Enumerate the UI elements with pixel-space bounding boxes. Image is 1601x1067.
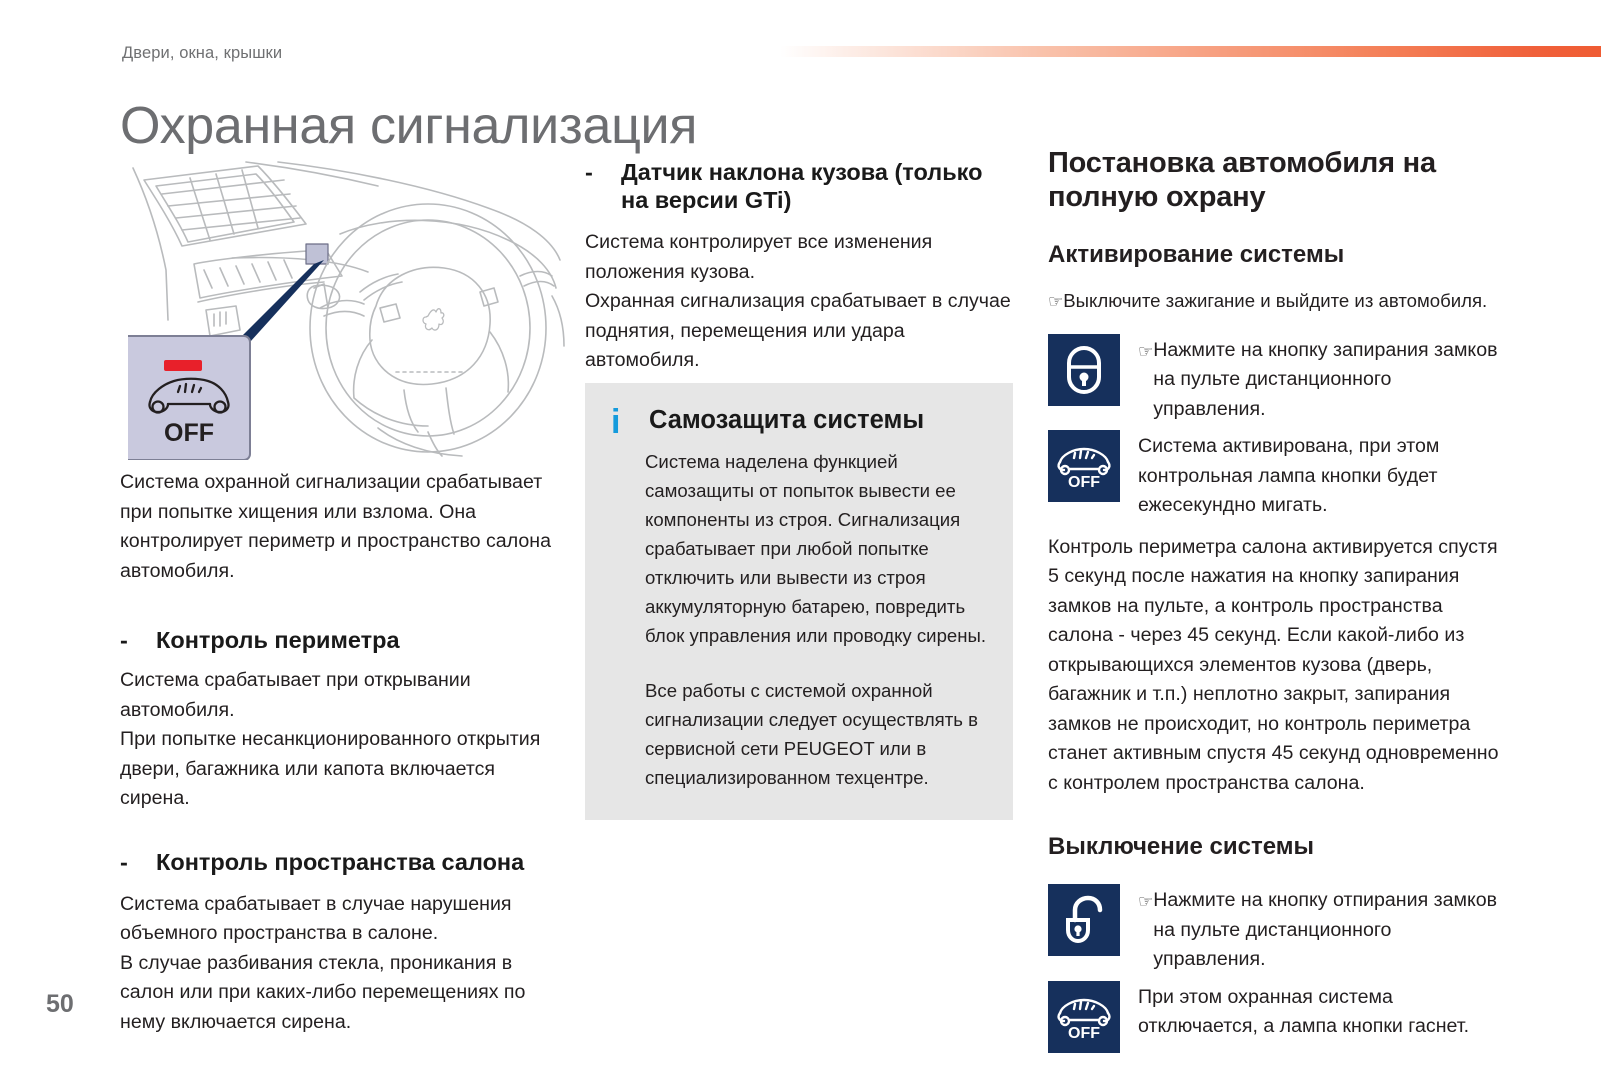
activation-lock-step-block: ☞ Нажмите на кнопку запирания замков на …	[1138, 334, 1500, 425]
page-title: Охранная сигнализация	[120, 96, 697, 156]
deactivation-status-row: OFF При этом охранная система отключаетс…	[1048, 981, 1500, 1053]
heading-full-arming: Постановка автомобиля на полную охрану	[1048, 146, 1500, 214]
activation-step-ignition: ☞ Выключите зажигание и выйдите из автом…	[1048, 286, 1500, 316]
deactivation-unlock-step-block: ☞ Нажмите на кнопку отпирания замков на …	[1138, 884, 1500, 975]
dash-marker: -	[120, 626, 156, 654]
activation-status-text: Система активирована, при этом контрольн…	[1138, 430, 1500, 521]
heading-tilt-sensor: - Датчик наклона кузова (только на верси…	[585, 158, 1013, 214]
manual-page: Двери, окна, крышки Охранная сигнализаци…	[0, 0, 1601, 1067]
cabin-paragraph-2: В случае разбивания стекла, проникания в…	[120, 949, 568, 1038]
deactivation-unlock-step: ☞ Нажмите на кнопку отпирания замков на …	[1138, 886, 1500, 975]
info-i-icon: i	[607, 405, 649, 439]
header-accent-rule	[780, 46, 1601, 57]
deactivation-unlock-step-text: Нажмите на кнопку отпирания замков на пу…	[1153, 886, 1500, 975]
activation-step-text: Выключите зажигание и выйдите из автомоб…	[1063, 286, 1487, 316]
heading-text: Контроль пространства салона	[156, 848, 568, 876]
running-head: Двери, окна, крышки	[122, 44, 282, 63]
perimeter-paragraph-2: При попытке несанкционированного открыти…	[120, 725, 568, 814]
svg-text:OFF: OFF	[1068, 1025, 1100, 1041]
deactivation-unlock-row: ☞ Нажмите на кнопку отпирания замков на …	[1048, 884, 1500, 975]
car-off-icon: OFF	[1048, 430, 1120, 502]
page-number: 50	[46, 990, 74, 1019]
activation-note: Контроль периметра салона активируется с…	[1048, 533, 1500, 799]
activation-status-row: OFF Система активирована, при этом контр…	[1048, 430, 1500, 521]
activation-lock-row: ☞ Нажмите на кнопку запирания замков на …	[1048, 334, 1500, 425]
left-intro-paragraph: Система охранной сигнализации срабатывае…	[120, 468, 568, 586]
heading-cabin-control: - Контроль пространства салона	[120, 848, 568, 876]
dash-marker: -	[120, 848, 156, 876]
right-column: Постановка автомобиля на полную охрану А…	[1048, 146, 1500, 1053]
heading-deactivation: Выключение системы	[1048, 832, 1500, 862]
car-off-icon: OFF	[1048, 981, 1120, 1053]
lock-closed-icon	[1048, 334, 1120, 406]
pointing-hand-icon: ☞	[1048, 286, 1063, 315]
left-column: Система охранной сигнализации срабатывае…	[120, 468, 568, 1037]
info-paragraph-1: Система наделена функцией самозащиты от …	[645, 447, 991, 650]
middle-column: - Датчик наклона кузова (только на верси…	[585, 158, 1013, 376]
dash-marker: -	[585, 158, 621, 214]
info-callout-title: Самозащита системы	[649, 405, 924, 435]
tilt-paragraph-1: Система контролирует все изменения полож…	[585, 228, 1013, 287]
heading-activation: Активирование системы	[1048, 240, 1500, 270]
info-paragraph-2: Все работы с системой охранной сигнализа…	[645, 676, 991, 792]
perimeter-paragraph-1: Система срабатывает при открывании автом…	[120, 666, 568, 725]
activation-lock-step-text: Нажмите на кнопку запирания замков на пу…	[1153, 336, 1500, 425]
heading-text: Датчик наклона кузова (только на версии …	[621, 158, 1013, 214]
lock-open-icon	[1048, 884, 1120, 956]
cabin-paragraph-1: Система срабатывает в случае нарушения о…	[120, 890, 568, 949]
svg-text:OFF: OFF	[1068, 474, 1100, 490]
info-callout-header: i Самозащита системы	[607, 405, 991, 439]
tilt-paragraph-2: Охранная сигнализация срабатывает в случ…	[585, 287, 1013, 376]
info-callout-box: i Самозащита системы Система наделена фу…	[585, 383, 1013, 820]
activation-lock-step: ☞ Нажмите на кнопку запирания замков на …	[1138, 336, 1500, 425]
pointing-hand-icon: ☞	[1138, 336, 1153, 365]
pointing-hand-icon: ☞	[1138, 886, 1153, 915]
dashboard-illustration: OFF	[128, 160, 568, 460]
heading-perimeter-control: - Контроль периметра	[120, 626, 568, 654]
info-callout-body: Система наделена функцией самозащиты от …	[645, 447, 991, 792]
deactivation-status-text: При этом охранная система отключается, а…	[1138, 981, 1500, 1042]
svg-text:OFF: OFF	[164, 419, 214, 447]
heading-text: Контроль периметра	[156, 626, 568, 654]
